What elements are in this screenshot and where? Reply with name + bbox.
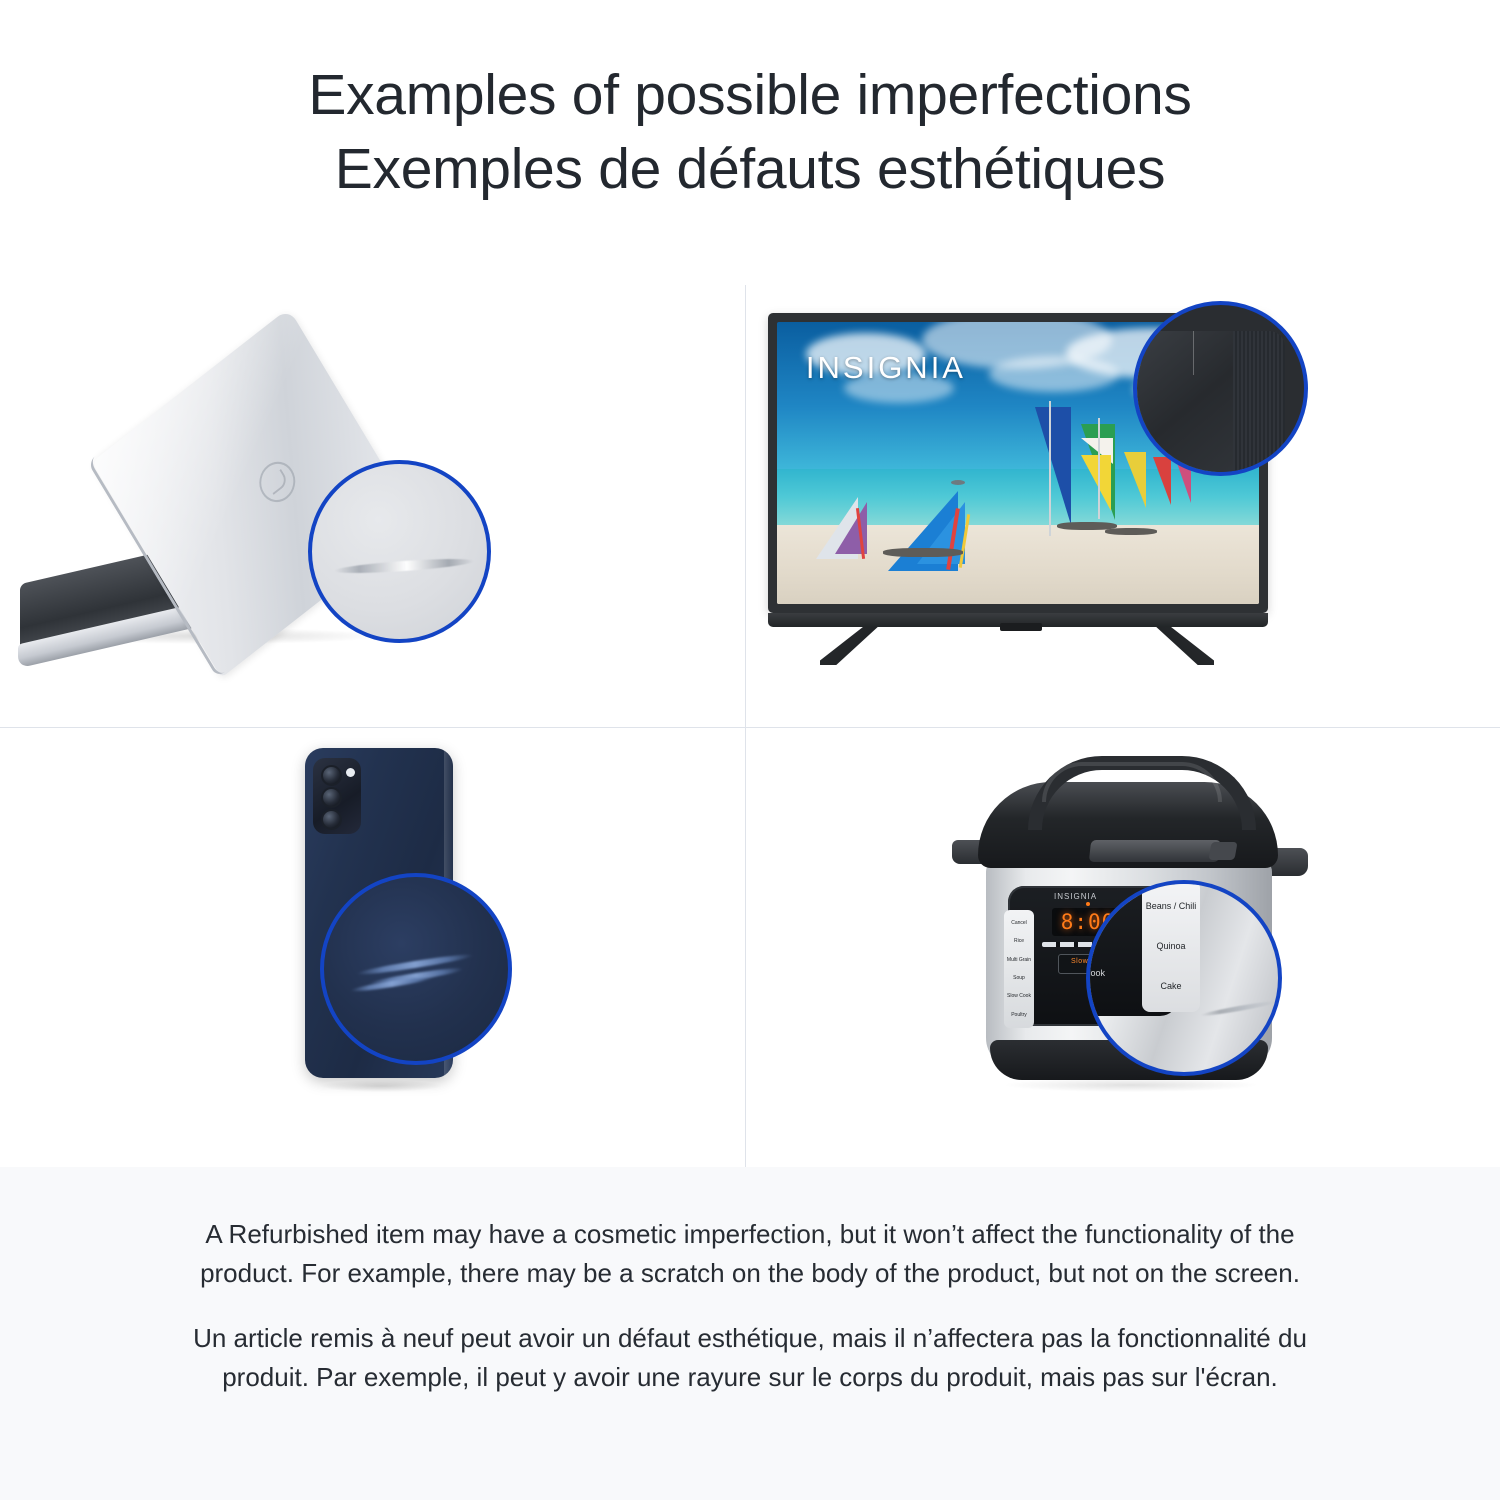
cooker-button[interactable]: Poultry xyxy=(1005,1012,1033,1018)
cloud-shape xyxy=(989,356,1119,392)
footer-disclaimer: A Refurbished item may have a cosmetic i… xyxy=(0,1167,1500,1500)
tv-magnifier-circle xyxy=(1133,301,1308,476)
laptop-scratch-mark xyxy=(334,556,474,576)
sailboat-mast xyxy=(1049,401,1051,536)
quadrant-smartphone xyxy=(0,728,745,1167)
tv-stand-leg-right xyxy=(1140,627,1214,665)
cooker-steam-valve-icon xyxy=(1208,842,1237,860)
cooker-lid-handle-highlight xyxy=(1042,762,1222,802)
cooker-scratch-mark xyxy=(1200,999,1278,1017)
cooker-button[interactable]: Rice xyxy=(1005,938,1033,944)
cooker-button[interactable]: Beans / Chili xyxy=(1146,901,1197,912)
sailboat-sail xyxy=(1035,407,1071,525)
quadrant-pressure-cooker: INSIGNIA 8:00 Slow Cook Cancel Rice Mult… xyxy=(746,728,1500,1167)
laptop-image xyxy=(20,360,500,660)
camera-lens-icon xyxy=(321,809,342,830)
cooker-magnified-label: Slow Cook xyxy=(1086,968,1105,978)
television-image: INSIGNIA xyxy=(768,313,1278,683)
cooker-magnifier-circle: Delay Slow Cook Beans / Chili Quinoa Cak… xyxy=(1086,880,1282,1076)
tv-brand-overlay: INSIGNIA xyxy=(806,350,966,386)
phone-shadow xyxy=(321,1080,441,1092)
pressure-cooker-image: INSIGNIA 8:00 Slow Cook Cancel Rice Mult… xyxy=(946,740,1326,1140)
camera-flash-icon xyxy=(346,768,355,777)
page-title: Examples of possible imperfections Exemp… xyxy=(0,58,1500,206)
distant-boat xyxy=(951,480,965,485)
disclaimer-french: Un article remis à neuf peut avoir un dé… xyxy=(180,1319,1320,1397)
cooker-button[interactable]: Soup xyxy=(1005,975,1033,981)
cooker-button[interactable]: Slow Cook xyxy=(1005,993,1033,999)
tv-stand-leg-left xyxy=(820,627,894,665)
refurbished-imperfections-infographic: Examples of possible imperfections Exemp… xyxy=(0,0,1500,1500)
sailboat-sail xyxy=(1081,455,1111,511)
title-line-french: Exemples de défauts esthétiques xyxy=(0,132,1500,206)
tv-ir-sensor-icon xyxy=(1000,623,1042,631)
cooker-lid-plate xyxy=(1089,840,1221,862)
cooker-magnified-button-column: Beans / Chili Quinoa Cake xyxy=(1142,880,1200,1012)
smartphone-image xyxy=(265,748,495,1148)
sailboat-mast xyxy=(1098,418,1100,520)
boat-hull xyxy=(1105,528,1157,535)
cooker-shadow xyxy=(1006,1078,1256,1092)
disclaimer-english: A Refurbished item may have a cosmetic i… xyxy=(180,1215,1320,1293)
quadrant-television: INSIGNIA xyxy=(746,285,1500,727)
cooker-button[interactable]: Cake xyxy=(1160,981,1181,992)
phone-camera-module xyxy=(313,758,361,834)
tv-magnified-side-panel xyxy=(1233,331,1285,476)
camera-lens-icon xyxy=(321,765,342,786)
cooker-button[interactable]: Quinoa xyxy=(1156,941,1185,952)
tv-bezel-seam-defect xyxy=(1193,331,1194,375)
camera-lens-icon xyxy=(321,787,342,808)
laptop-magnifier-circle xyxy=(308,460,491,643)
title-line-english: Examples of possible imperfections xyxy=(0,58,1500,132)
examples-grid: INSIGNIA xyxy=(0,285,1500,1167)
cooker-button-column-left: Cancel Rice Multi Grain Soup Slow Cook P… xyxy=(1004,910,1034,1028)
cooker-button[interactable]: Cancel xyxy=(1005,920,1033,926)
boat-hull xyxy=(883,548,963,557)
quadrant-laptop xyxy=(0,285,745,727)
cooker-button[interactable]: Multi Grain xyxy=(1005,957,1033,963)
phone-magnifier-circle xyxy=(320,873,512,1065)
